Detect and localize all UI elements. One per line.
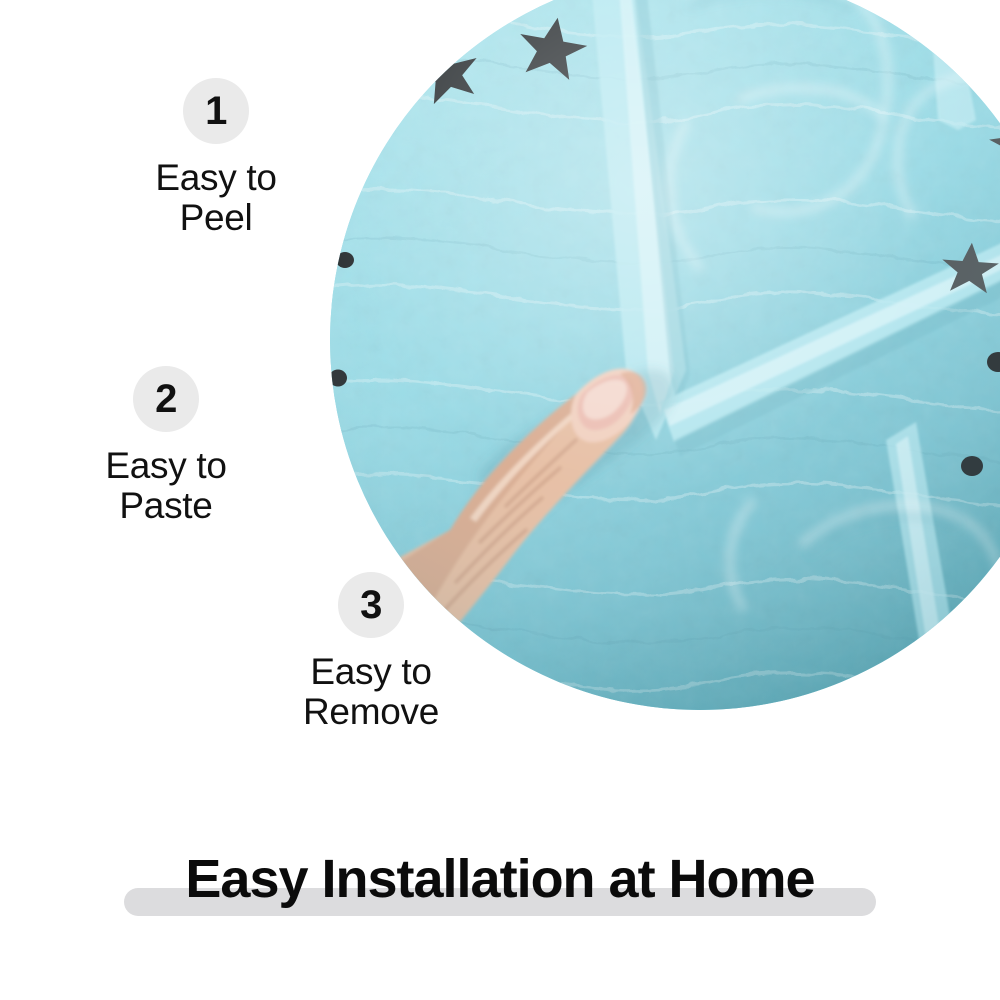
headline-block: Easy Installation at Home [0, 848, 1000, 938]
step-number-badge-2: 2 [133, 366, 199, 432]
infographic-root: 1 Easy to Peel 2 Easy to Paste 3 Easy to… [0, 0, 1000, 1000]
step-label-1: Easy to Peel [155, 158, 276, 238]
step-label-3: Easy to Remove [303, 652, 439, 732]
step-item-2: 2 Easy to Paste [57, 366, 275, 526]
page-headline: Easy Installation at Home [0, 848, 1000, 910]
step-number-badge-1: 1 [183, 78, 249, 144]
step-label-2: Easy to Paste [105, 446, 226, 526]
step-number-badge-3: 3 [338, 572, 404, 638]
step-item-1: 1 Easy to Peel [107, 78, 325, 238]
step-item-3: 3 Easy to Remove [262, 572, 480, 732]
